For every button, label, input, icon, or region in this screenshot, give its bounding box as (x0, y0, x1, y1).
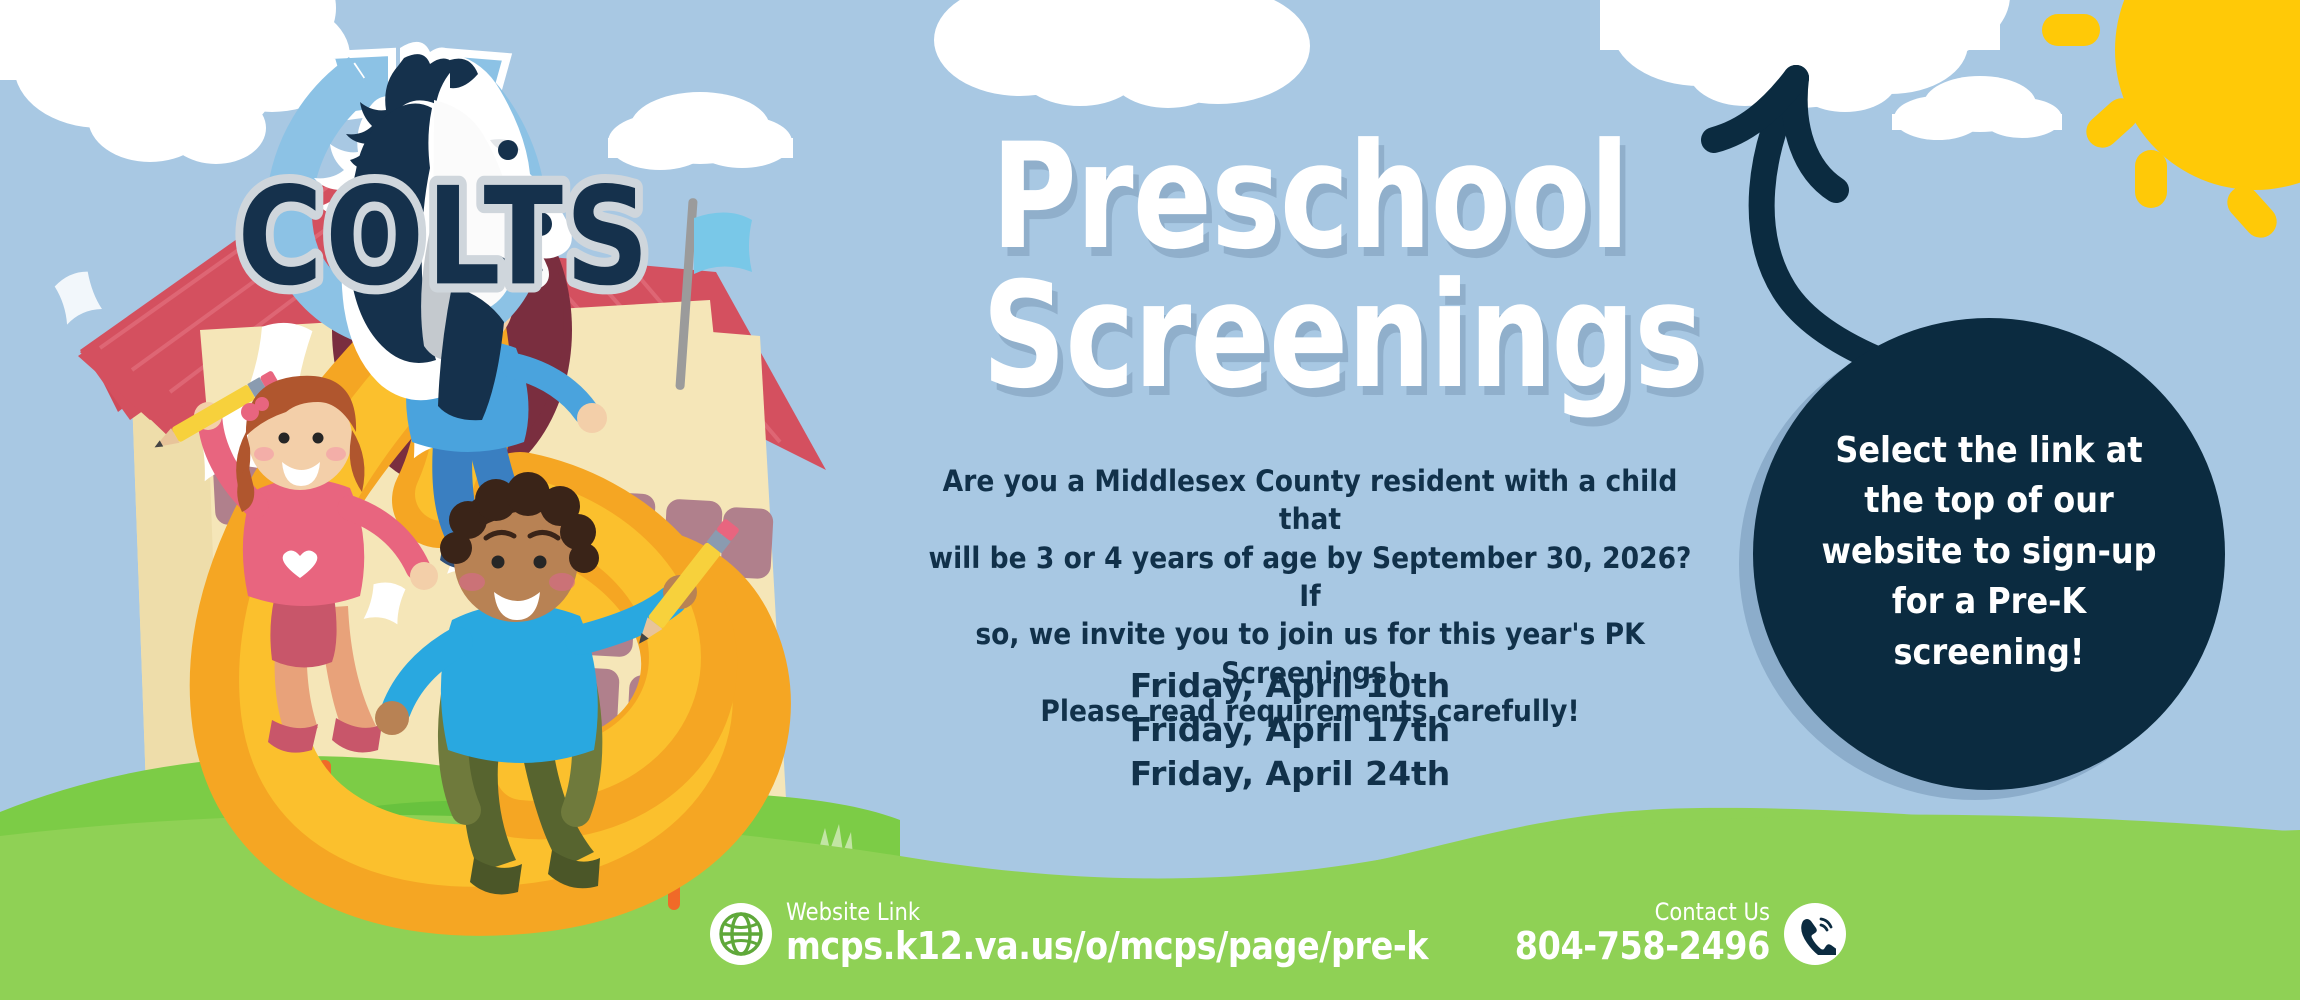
website-text-stack: Website Link mcps.k12.va.us/o/mcps/page/… (786, 900, 1516, 968)
contact-group[interactable]: Contact Us 804-758-2496 (1480, 900, 1846, 968)
date-item: Friday, April 24th (1040, 752, 1540, 796)
date-item: Friday, April 10th (1040, 664, 1540, 708)
callout-text: Select the link at the top of our websit… (1809, 426, 2169, 682)
callout-bubble[interactable]: Select the link at the top of our websit… (1753, 318, 2225, 790)
globe-icon-wrapper (710, 903, 772, 965)
dates-list: Friday, April 10th Friday, April 17th Fr… (1040, 664, 1540, 796)
page-title: Preschool Screenings (900, 128, 1720, 405)
description-line-2: will be 3 or 4 years of age by September… (923, 539, 1697, 616)
phone-icon-wrapper (1784, 903, 1846, 965)
callout-line-2: the top of our (1809, 476, 2169, 526)
callout-line-1: Select the link at (1809, 426, 2169, 476)
callout-line-5: screening! (1809, 628, 2169, 678)
callout-line-3: website to sign-up (1809, 527, 2169, 577)
website-label: Website Link (786, 900, 1428, 925)
phone-ring-icon (1794, 913, 1836, 955)
website-url[interactable]: mcps.k12.va.us/o/mcps/page/pre-k (786, 925, 1428, 968)
website-link-group[interactable]: Website Link mcps.k12.va.us/o/mcps/page/… (710, 900, 1516, 968)
poster-canvas: COLTS COLTS Select the link at the top o… (0, 0, 2300, 1000)
contact-phone[interactable]: 804-758-2496 (1515, 925, 1770, 968)
contact-text-stack: Contact Us 804-758-2496 (1480, 900, 1770, 968)
globe-icon (718, 911, 764, 957)
description-line-1: Are you a Middlesex County resident with… (923, 462, 1697, 539)
callout-line-4: for a Pre-K (1809, 577, 2169, 627)
contact-label: Contact Us (1515, 900, 1770, 925)
title-line-2: Screenings (982, 267, 1638, 406)
title-line-1: Preschool (982, 128, 1638, 267)
date-item: Friday, April 17th (1040, 708, 1540, 752)
